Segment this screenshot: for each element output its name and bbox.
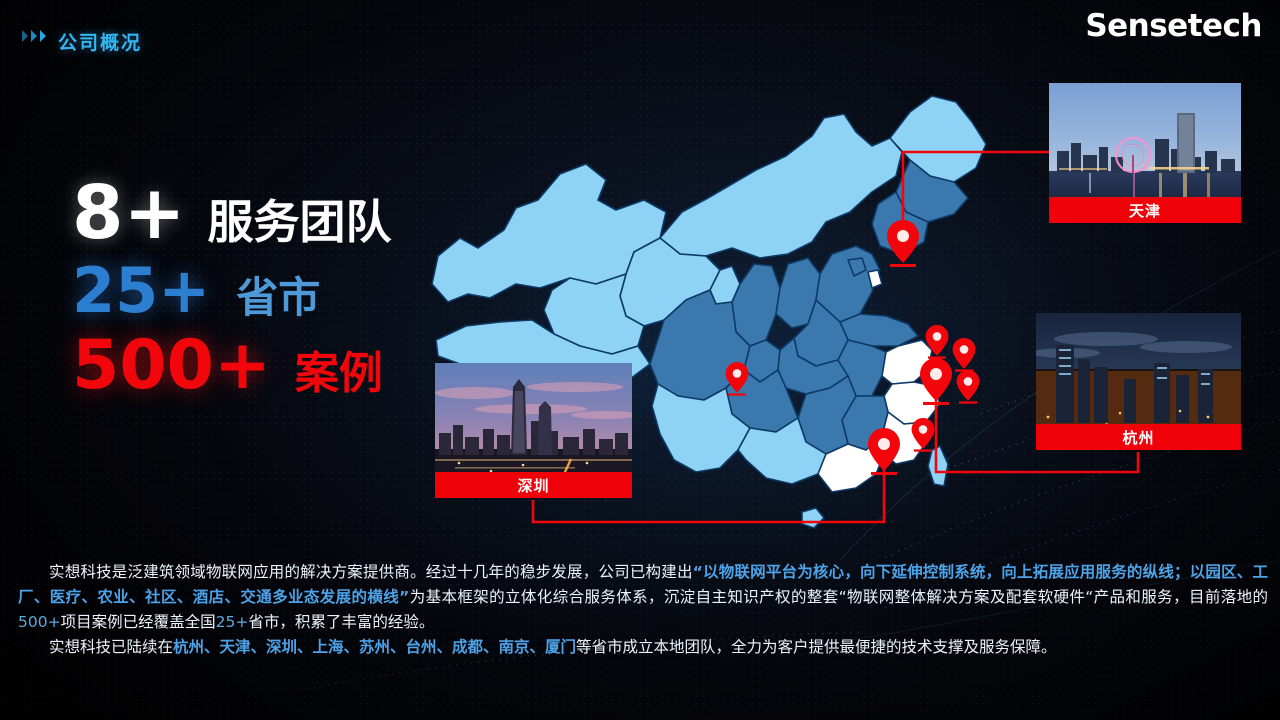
p2-part-a: 实想科技已陆续在 — [49, 638, 173, 656]
chevrons-right-icon — [22, 30, 46, 42]
p1-part-c: 项目案例已经覆盖全国 — [61, 613, 216, 631]
company-logo: Sensetech — [1085, 8, 1262, 44]
stat-row-cases: 500+ 案例 — [72, 332, 392, 400]
body-text: 实想科技是泛建筑领域物联网应用的解决方案提供商。经过十几年的稳步发展，公司已构建… — [18, 560, 1268, 660]
body-paragraph-2: 实想科技已陆续在杭州、天津、深圳、上海、苏州、台州、成都、南京、厦门等省市成立本… — [18, 635, 1268, 660]
p1-part-d: 省市，积累了丰富的经验。 — [248, 613, 434, 631]
city-card-tianjin[interactable]: 天津 — [1049, 83, 1241, 223]
stats-block: 8+ 服务团队 25+ 省市 500+ 案例 — [72, 176, 392, 410]
p1-number-provinces: 25+ — [216, 613, 249, 631]
stat-number-teams: 8+ — [72, 176, 186, 250]
stat-label-cases: 案例 — [295, 352, 383, 396]
city-card-caption-shenzhen: 深圳 — [435, 472, 632, 498]
city-card-hangzhou[interactable]: 杭州 — [1036, 313, 1241, 450]
city-card-caption-hangzhou: 杭州 — [1036, 424, 1241, 450]
p1-part-a: 实想科技是泛建筑领域物联网应用的解决方案提供商。经过十几年的稳步发展，公司已构建… — [49, 563, 693, 581]
city-card-shenzhen[interactable]: 深圳 — [435, 363, 632, 498]
stat-row-provinces: 25+ 省市 — [72, 260, 392, 322]
stat-number-cases: 500+ — [72, 332, 271, 400]
stat-number-provinces: 25+ — [72, 260, 210, 322]
p1-part-b: 为基本框架的立体化综合服务体系，沉淀自主知识产权的整套“物联网整体解决方案及配套… — [409, 588, 1268, 606]
stat-row-teams: 8+ 服务团队 — [72, 176, 392, 250]
p1-number-cases: 500+ — [18, 613, 61, 631]
stat-label-provinces: 省市 — [236, 277, 320, 319]
page-title: 公司概况 — [58, 28, 142, 55]
slide-header: 公司概况 Sensetech — [0, 0, 1280, 66]
stat-label-teams: 服务团队 — [208, 199, 392, 245]
body-paragraph-1: 实想科技是泛建筑领域物联网应用的解决方案提供商。经过十几年的稳步发展，公司已构建… — [18, 560, 1268, 635]
slide-root: 公司概况 Sensetech 8+ 服务团队 25+ 省市 500+ 案例 — [0, 0, 1280, 720]
city-card-caption-tianjin: 天津 — [1049, 197, 1241, 223]
p2-part-b: 等省市成立本地团队，全力为客户提供最便捷的技术支撑及服务保障。 — [576, 638, 1057, 656]
p2-cities-highlight: 杭州、天津、深圳、上海、苏州、台州、成都、南京、厦门 — [173, 638, 576, 656]
